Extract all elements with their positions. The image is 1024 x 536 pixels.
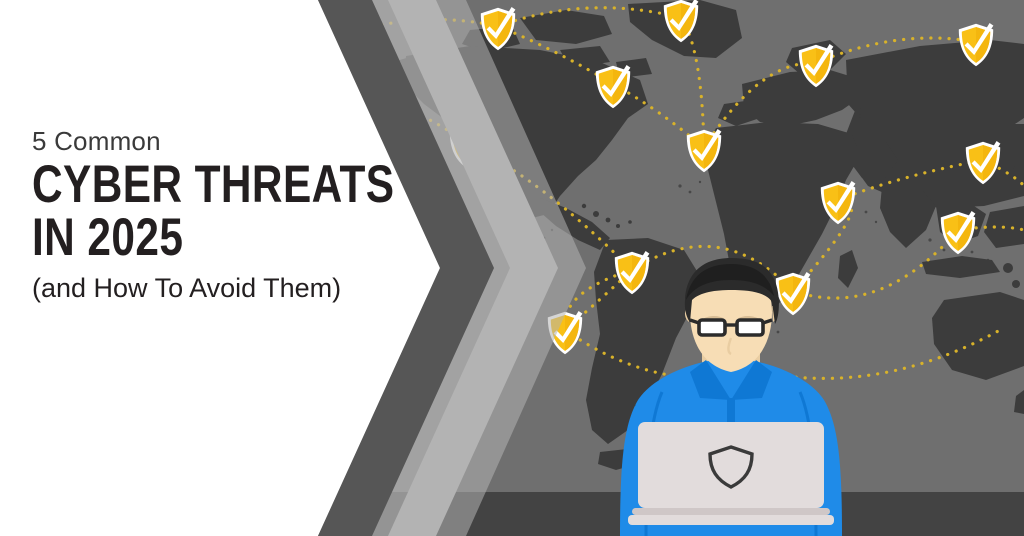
cyber-threats-banner: 5 Common CYBER THREATS IN 2025 (and How …: [0, 0, 1024, 536]
eyebrow-text: 5 Common: [32, 128, 452, 154]
headline-line-2: IN 2025: [32, 213, 368, 264]
headline-line-1: CYBER THREATS: [32, 160, 368, 211]
headline-block: 5 Common CYBER THREATS IN 2025 (and How …: [32, 128, 452, 302]
subheadline-text: (and How To Avoid Them): [32, 274, 452, 302]
